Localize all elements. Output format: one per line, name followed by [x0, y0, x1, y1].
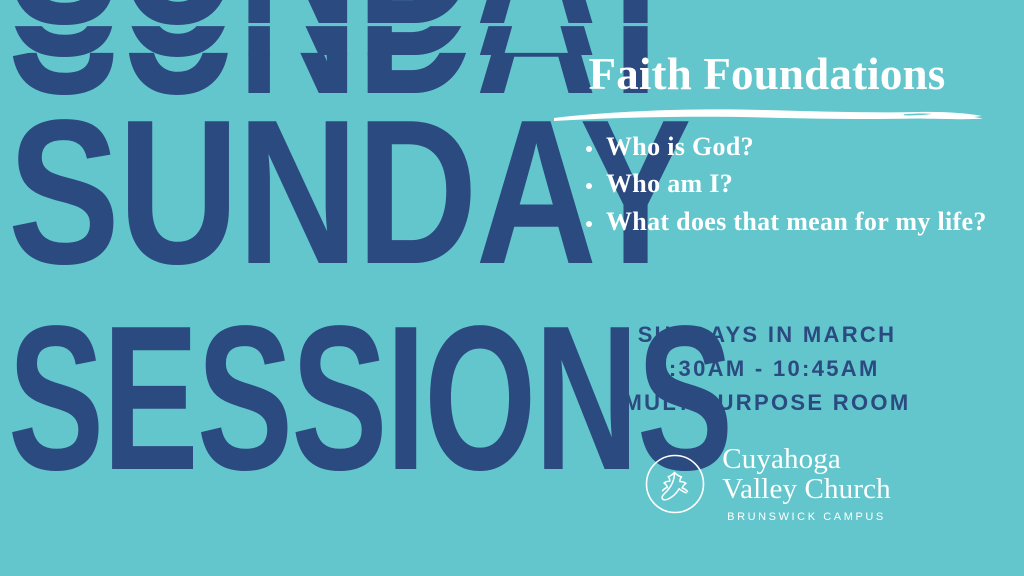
series-question-list: Who is God? Who am I? What does that mea… [584, 130, 1004, 242]
schedule-time: 9:30AM - 10:45AM [528, 352, 1006, 386]
campus-label: BRUNSWICK CAMPUS [722, 511, 891, 523]
leaf-in-circle-icon [643, 452, 707, 516]
series-title: Faith Foundations [528, 52, 1006, 97]
schedule-dates: SUNDAYS IN MARCH [528, 318, 1006, 352]
list-item: What does that mean for my life? [584, 205, 1004, 239]
schedule-location: MULTIPURPOSE ROOM [528, 386, 1006, 420]
church-wordmark: Cuyahoga Valley Church BRUNSWICK CAMPUS [722, 444, 891, 523]
content-column: Faith Foundations Who is God? Who am I? … [528, 0, 1024, 576]
headline-lockup: SUNDAY SUNDAY SUNDAY SUNDAY SESSIONS [0, 0, 610, 576]
list-item: Who am I? [584, 167, 1004, 201]
church-logo: Cuyahoga Valley Church BRUNSWICK CAMPUS [528, 444, 1006, 523]
title-underline-brushstroke [552, 104, 984, 128]
list-item: Who is God? [584, 130, 1004, 164]
church-name-line-2: Valley Church [722, 474, 891, 504]
schedule-block: SUNDAYS IN MARCH 9:30AM - 10:45AM MULTIP… [528, 318, 1006, 420]
church-name-line-1: Cuyahoga [722, 444, 891, 474]
poster-canvas: SUNDAY SUNDAY SUNDAY SUNDAY SESSIONS Fai… [0, 0, 1024, 576]
